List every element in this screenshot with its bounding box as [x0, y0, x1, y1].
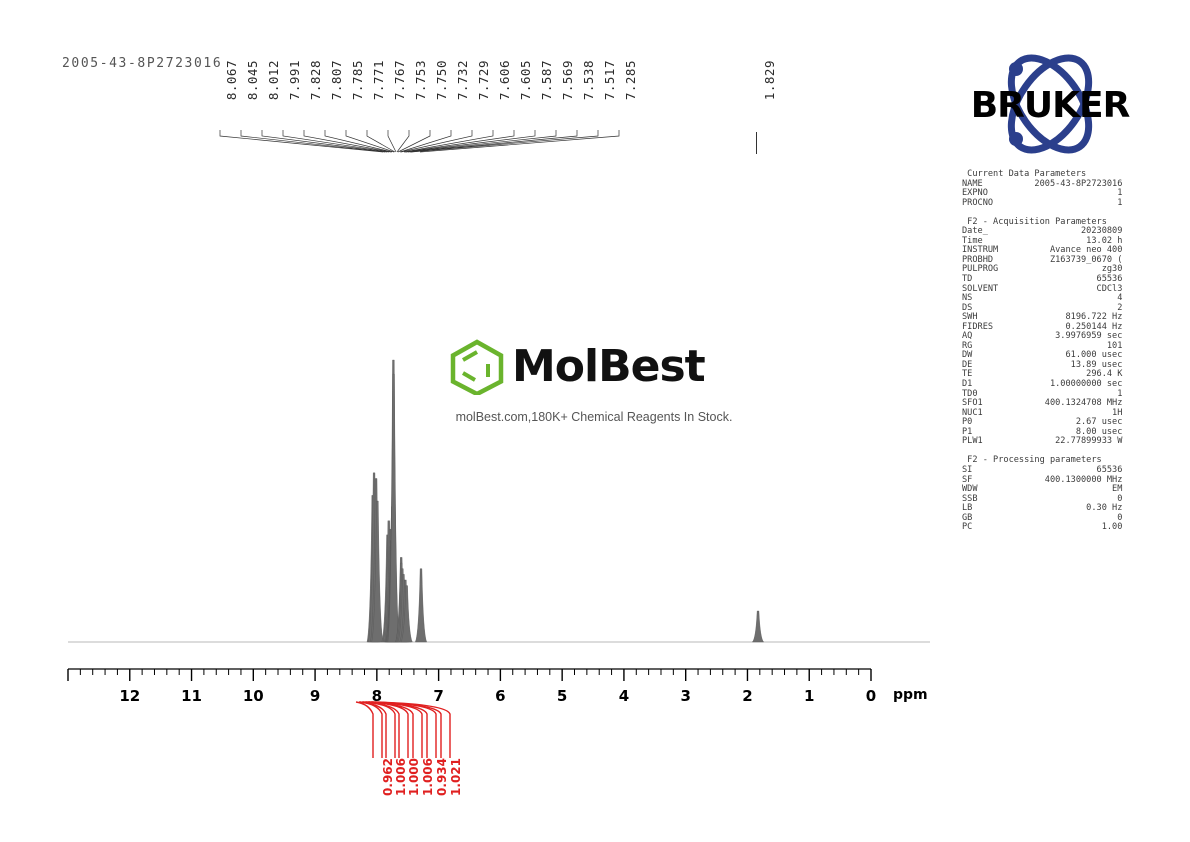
integral-value: 1.021 [449, 758, 463, 796]
integral-value: 1.000 [407, 758, 421, 796]
peak-label: 7.538 [581, 60, 596, 100]
integral-value: 0.934 [435, 758, 449, 796]
peak-label: 8.045 [245, 60, 260, 100]
peak-label-solo: 1.829 [762, 60, 777, 100]
param-row: PROCNO 1 [962, 199, 1142, 209]
peak-label: 7.285 [623, 60, 638, 100]
spectrum-trace [0, 300, 1190, 645]
peak-label: 7.767 [392, 60, 407, 100]
peak-label: 7.771 [371, 60, 386, 100]
integral-values-group: 0.9621.0061.0001.0060.9341.021 [0, 700, 1190, 790]
peak-label: 8.067 [224, 60, 239, 100]
integral-value: 0.962 [381, 758, 395, 796]
integral-value: 1.006 [394, 758, 408, 796]
integral-curve [356, 702, 373, 758]
spectrum-peak [415, 569, 426, 642]
peak-label: 7.991 [287, 60, 302, 100]
bruker-logo: BRUKER [955, 48, 1145, 160]
nmr-report-page: 2005-43-8P2723016 1.829 8.0678.0458.0127… [0, 0, 1190, 842]
bruker-node-bottom [1009, 132, 1023, 146]
spectrum-peak [752, 611, 763, 642]
peak-label: 7.606 [497, 60, 512, 100]
integral-curves [0, 700, 1190, 790]
peak-label: 7.729 [476, 60, 491, 100]
peak-label: 7.732 [455, 60, 470, 100]
peak-label: 7.753 [413, 60, 428, 100]
peak-label: 8.012 [266, 60, 281, 100]
peak-label: 7.587 [539, 60, 554, 100]
integral-value: 1.006 [421, 758, 435, 796]
bruker-wordmark: BRUKER [961, 88, 1139, 124]
peak-leader-line-solo [756, 132, 757, 154]
peak-label: 7.605 [518, 60, 533, 100]
peak-label: 7.785 [350, 60, 365, 100]
ppm-axis-ticks [0, 665, 1190, 687]
peak-label: 7.750 [434, 60, 449, 100]
peak-label: 7.828 [308, 60, 323, 100]
peak-leader-line [397, 130, 409, 152]
peak-label: 7.807 [329, 60, 344, 100]
peak-label: 7.569 [560, 60, 575, 100]
bruker-node-top [1009, 62, 1023, 76]
peak-label: 7.517 [602, 60, 617, 100]
